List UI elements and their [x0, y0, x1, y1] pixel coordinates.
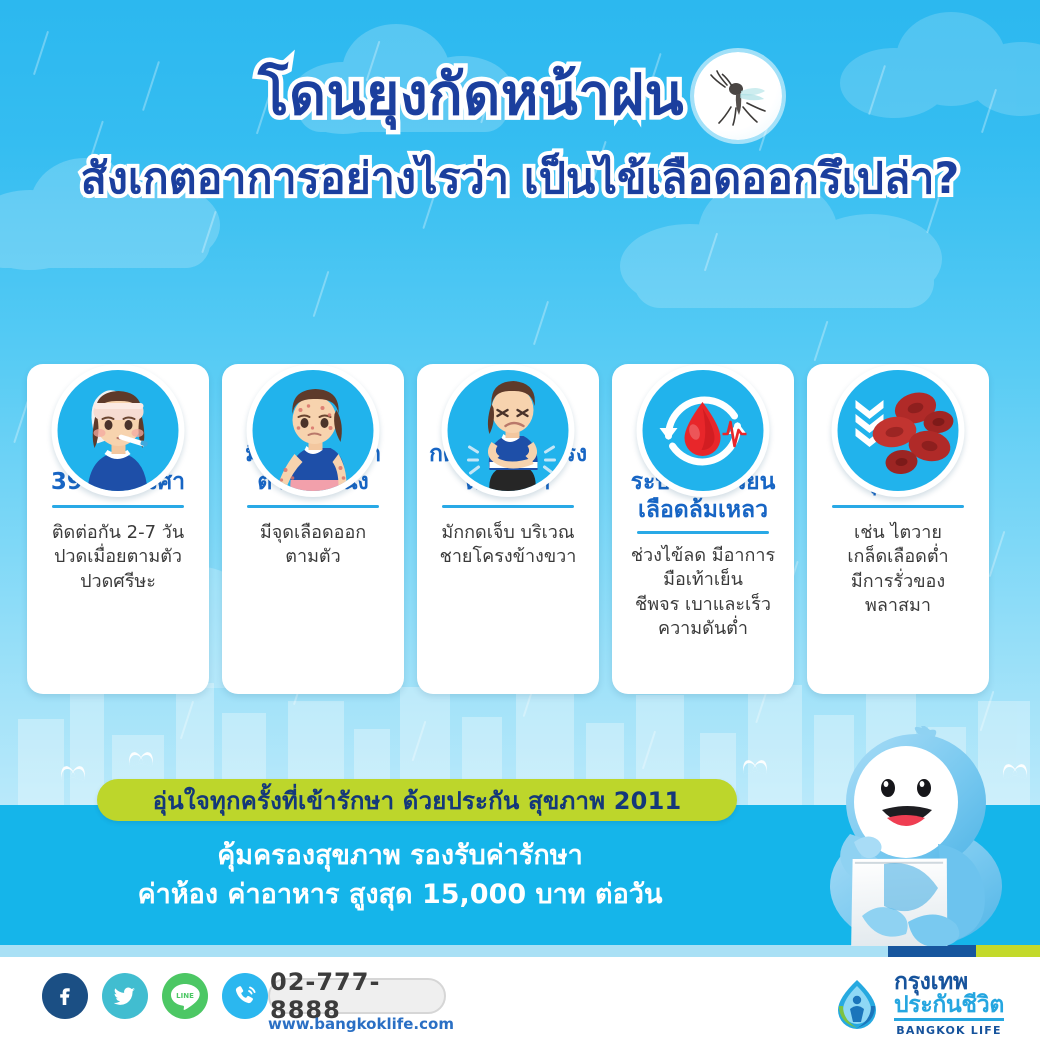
header: โดนยุงกัดหน้าฝน สังเกตอาการอย่างไรว่า เป…: [0, 52, 1040, 203]
symptom-card-2[interactable]: มีจุดเลือดออกตามผิวหนัง มีจุดเลือดออกตาม…: [222, 364, 404, 694]
title-row: โดนยุงกัดหน้าฝน: [0, 52, 1040, 140]
logo-line-1: กรุงเทพ: [894, 971, 1004, 994]
symptom-card-5[interactable]: อาจมีอาการรุนแรง เช่น ไตวายเกล็ดเลือดต่ำ…: [807, 364, 989, 694]
bird-icon: [60, 766, 86, 779]
mosquito-icon: [694, 52, 782, 140]
line-icon[interactable]: LINE: [162, 973, 208, 1019]
promo-badge: อุ่นใจทุกครั้งที่เข้ารักษา ด้วยประกัน สุ…: [97, 779, 737, 821]
facebook-icon[interactable]: [42, 973, 88, 1019]
symptom-card-1[interactable]: มีไข้สูง39-40 องศา ติดต่อกัน 2-7 วันปวดเ…: [27, 364, 209, 694]
skin-rash-person-icon: [247, 364, 380, 497]
symptom-card-3[interactable]: กดเจ็บชายโครงด้านขวา มักกดเจ็บ บริเวณชาย…: [417, 364, 599, 694]
low-platelets-blood-cells-icon: [832, 364, 965, 497]
sick-person-fever-icon: [52, 364, 185, 497]
card-body: เช่น ไตวายเกล็ดเลือดต่ำ มีการรั่วของพลาส…: [841, 521, 954, 618]
svg-text:LINE: LINE: [176, 992, 194, 1000]
page-subtitle: สังเกตอาการอย่างไรว่า เป็นไข้เลือดออกรึเ…: [0, 156, 1040, 203]
bird-icon: [128, 752, 154, 765]
page-title: โดนยุงกัดหน้าฝน: [258, 66, 684, 126]
symptom-cards: มีไข้สูง39-40 องศา ติดต่อกัน 2-7 วันปวดเ…: [0, 298, 1040, 698]
infographic-root: โดนยุงกัดหน้าฝน สังเกตอาการอย่างไรว่า เป…: [0, 0, 1040, 1040]
logo-text: กรุงเทพ ประกันชีวิต BANGKOK LIFE: [894, 971, 1004, 1036]
logo-line-2: ประกันชีวิต: [894, 994, 1004, 1021]
accent-block-navy: [888, 945, 976, 957]
card-body: ติดต่อกัน 2-7 วันปวดเมื่อยตามตัวปวดศรีษะ: [46, 521, 190, 594]
card-body: มักกดเจ็บ บริเวณชายโครงข้างขวา: [434, 521, 583, 570]
twitter-icon[interactable]: [102, 973, 148, 1019]
promo-line-2: ค่าห้อง ค่าอาหาร สูงสุด 15,000 บาท ต่อวั…: [0, 875, 800, 914]
logo-line-3: BANGKOK LIFE: [894, 1025, 1004, 1036]
bird-icon: [742, 760, 768, 773]
card-body: ช่วงไข้ลด มีอาการมือเท้าเย็น ชีพจร เบาแล…: [625, 544, 781, 641]
blood-circulation-shock-icon: [637, 364, 770, 497]
footer: LINE 02-777-8888 www.bangkoklife.com: [0, 957, 1040, 1040]
card-divider: [442, 505, 574, 508]
symptom-card-4[interactable]: ภาวะช็อกระบบไหลเวียนเลือดล้มเหลว ช่วงไข้…: [612, 364, 794, 694]
social-links: LINE: [42, 973, 268, 1019]
promo-badge-text: อุ่นใจทุกครั้งที่เข้ารักษา ด้วยประกัน สุ…: [153, 781, 682, 820]
footer-divider-strip: [0, 945, 1040, 957]
telephone-icon[interactable]: [222, 973, 268, 1019]
accent-block-lime: [976, 945, 1040, 957]
card-divider: [832, 505, 964, 508]
card-divider: [637, 531, 769, 534]
abdominal-pain-person-icon: [442, 364, 575, 497]
card-divider: [247, 505, 379, 508]
website-url[interactable]: www.bangkoklife.com: [268, 1015, 446, 1033]
promo-text: คุ้มครองสุขภาพ รองรับค่ารักษา ค่าห้อง ค่…: [0, 836, 800, 914]
card-divider: [52, 505, 184, 508]
blue-mascot-character: [788, 726, 1032, 946]
logo-mark-icon: [829, 976, 885, 1032]
phone-number-pill[interactable]: 02-777-8888: [268, 978, 446, 1014]
card-body: มีจุดเลือดออกตามตัว: [254, 521, 372, 570]
bangkok-life-logo[interactable]: กรุงเทพ ประกันชีวิต BANGKOK LIFE: [829, 971, 1004, 1036]
promo-line-1: คุ้มครองสุขภาพ รองรับค่ารักษา: [0, 836, 800, 875]
